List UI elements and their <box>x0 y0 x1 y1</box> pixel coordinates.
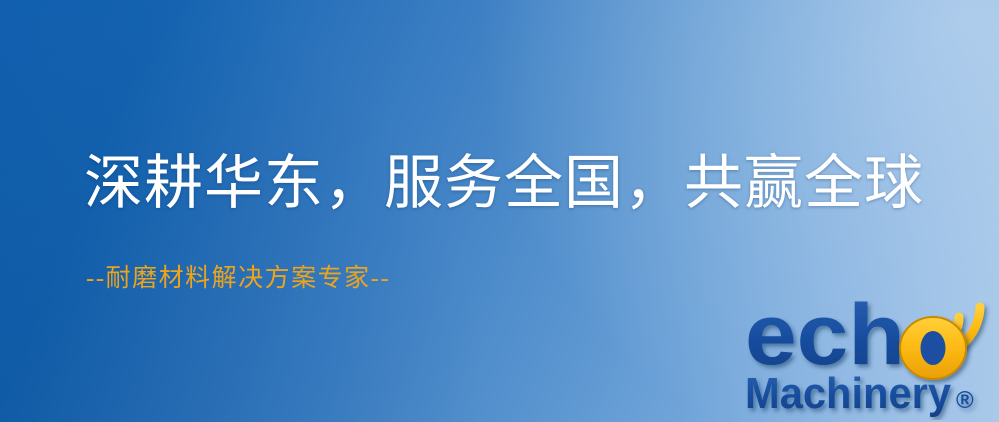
logo-subword: Machinery ® <box>745 369 974 418</box>
registered-mark: ® <box>956 387 974 414</box>
logo-subword-text: Machinery <box>745 369 951 418</box>
company-logo[interactable]: ech Machinery ® <box>743 292 995 420</box>
promo-banner: 深耕华东，服务全国，共赢全球 --耐磨材料解决方案专家-- <box>0 0 999 422</box>
banner-subtitle: --耐磨材料解决方案专家-- <box>86 266 390 291</box>
banner-headline: 深耕华东，服务全国，共赢全球 <box>84 154 924 213</box>
